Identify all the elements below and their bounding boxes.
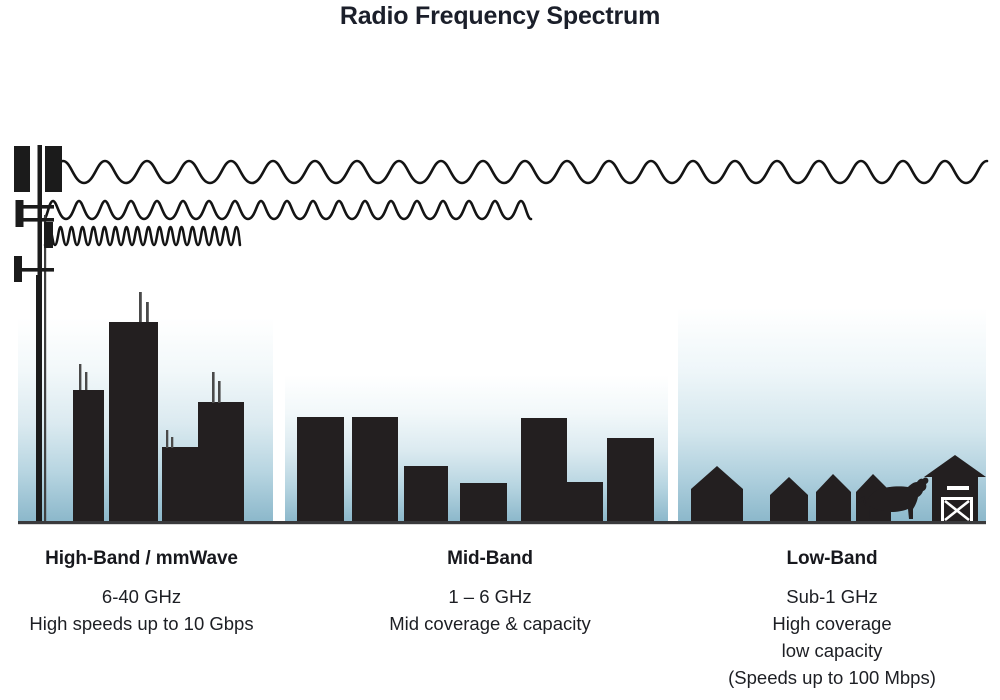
antenna-panel [45,146,62,192]
wave-high-frequency [45,227,240,245]
antenna-panel [14,146,30,192]
band-title-mid-band: Mid-Band [330,547,650,571]
band-details-mid-band: 1 – 6 GHz Mid coverage & capacity [330,583,650,637]
infographic-canvas: Radio Frequency Spectrum [0,0,1000,700]
barn-loft-window [947,486,969,490]
band-detail-line: Mid coverage & capacity [330,610,650,637]
antenna-panel [44,222,53,248]
band-details-low-band: Sub-1 GHz High coverage low capacity (Sp… [672,583,992,691]
wave-low-frequency [47,161,987,183]
band-detail-line: High coverage [672,610,992,637]
wave-mid-frequency [44,201,531,219]
band-caption-mid-band: Mid-Band 1 – 6 GHz Mid coverage & capaci… [330,547,650,637]
antenna-panel [16,200,24,227]
band-title-low-band: Low-Band [672,547,992,571]
band-detail-line: 6-40 GHz [0,583,283,610]
antenna-panel [14,256,22,282]
band-detail-line: Sub-1 GHz [672,583,992,610]
band-caption-low-band: Low-Band Sub-1 GHz High coverage low cap… [672,547,992,691]
band-detail-line: low capacity [672,637,992,664]
ground-line [18,521,986,524]
band-caption-high-band: High-Band / mmWave 6-40 GHz High speeds … [0,547,283,637]
band-details-high-band: 6-40 GHz High speeds up to 10 Gbps [0,583,283,637]
band-title-high-band: High-Band / mmWave [0,547,283,571]
band-detail-line: High speeds up to 10 Gbps [0,610,283,637]
band-detail-line: (Speeds up to 100 Mbps) [672,664,992,691]
band-detail-line: 1 – 6 GHz [330,583,650,610]
